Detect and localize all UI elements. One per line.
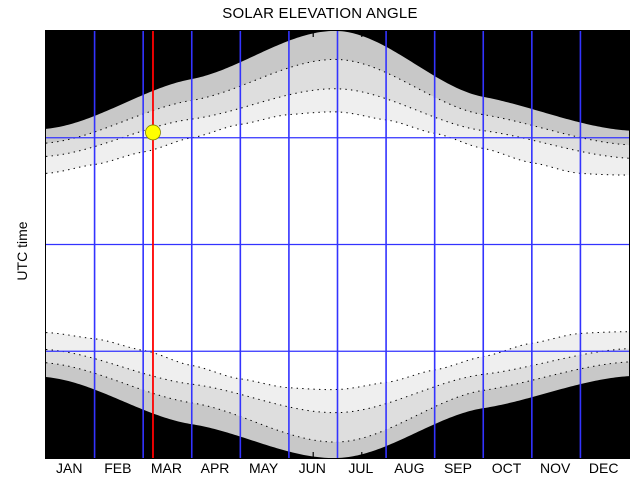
plot-area[interactable] — [45, 30, 630, 459]
chart-title: SOLAR ELEVATION ANGLE — [0, 5, 640, 22]
sun-position-dot[interactable] — [145, 125, 160, 140]
y-axis-title: UTC time — [14, 191, 30, 311]
current-time-marker[interactable] — [145, 125, 160, 140]
solar-elevation-chart-figure: SOLAR ELEVATION ANGLE UTC time 24 18 12 … — [0, 0, 640, 480]
x-tick-label-dec: DEC — [574, 460, 634, 476]
plot-canvas — [46, 31, 629, 458]
